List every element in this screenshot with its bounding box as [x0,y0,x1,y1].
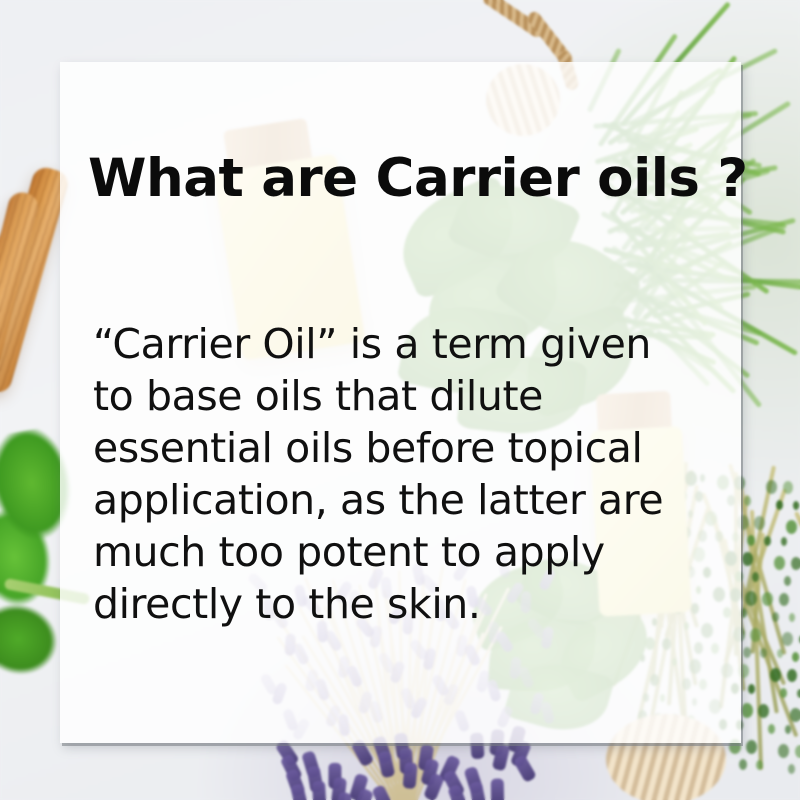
thyme-leaf-icon [774,556,785,570]
thyme-leaf-icon [756,760,763,770]
thyme-leaf-icon [793,501,799,510]
body-paragraph: “Carrier Oil” is a term given to base oi… [93,318,723,630]
thyme-leaf-icon [770,668,781,682]
body-line: essential oils before topical [93,422,723,474]
thyme-leaf-icon [778,744,789,758]
thyme-leaf-icon [786,520,797,534]
thyme-stem-icon [794,511,800,711]
thyme-leaf-icon [747,535,755,546]
lavender-bud-icon [469,781,487,800]
lavender-bud-icon [290,783,309,800]
thyme-leaf-icon [742,552,753,566]
body-line: directly to the skin. [93,578,723,630]
thyme-leaf-icon [750,628,761,642]
thyme-leaf-icon [788,764,795,774]
lavender-bud-icon [491,778,504,800]
thyme-leaf-icon [781,537,787,546]
body-line: application, as the latter are [93,474,723,526]
thyme-leaf-icon [741,703,753,718]
thyme-leaf-icon [760,648,767,658]
thyme-leaf-icon [785,725,791,734]
text-card-inner: What are Carrier oils ? “Carrier Oil” is… [60,62,741,743]
body-line: much too potent to apply [93,526,723,578]
lavender-bud-icon [312,781,326,800]
body-line: to base oils that dilute [93,370,723,422]
thyme-leaf-icon [795,745,800,758]
lavender-bud-icon [403,762,418,789]
thyme-leaf-icon [776,500,783,510]
thyme-leaf-icon [766,480,777,494]
thyme-leaf-icon [762,592,773,606]
thyme-leaf-icon [792,652,799,662]
thyme-leaf-icon [784,576,791,586]
page-title: What are Carrier oils ? [88,148,748,209]
thyme-leaf-icon [777,649,783,658]
lavender-bud-icon [513,754,537,783]
thyme-leaf-icon [791,557,800,570]
thyme-leaf-icon [744,496,751,506]
thyme-leaf-icon [752,572,759,582]
thyme-leaf-icon [754,516,765,530]
thyme-leaf-icon [783,481,793,494]
thyme-leaf-icon [768,724,775,734]
thyme-leaf-icon [758,704,769,718]
thyme-leaf-icon [779,593,789,606]
thyme-leaf-icon [748,684,755,694]
lavender-bud-icon [447,784,468,800]
thyme-leaf-icon [790,708,800,722]
infographic-canvas: What are Carrier oils ? “Carrier Oil” is… [0,0,800,800]
thyme-leaf-icon [789,613,795,622]
thyme-leaf-icon [782,632,793,646]
thyme-leaf-icon [772,612,779,622]
thyme-leaf-icon [746,740,757,754]
thyme-leaf-icon [787,669,797,682]
text-card: What are Carrier oils ? “Carrier Oil” is… [60,62,741,743]
body-line: “Carrier Oil” is a term given [93,318,723,370]
thyme-leaf-icon [739,759,747,770]
thyme-leaf-icon [740,608,747,618]
thyme-leaf-icon [780,688,787,698]
thyme-leaf-icon [743,647,751,658]
thyme-leaf-icon [764,536,771,546]
thyme-leaf-icon [745,591,757,606]
